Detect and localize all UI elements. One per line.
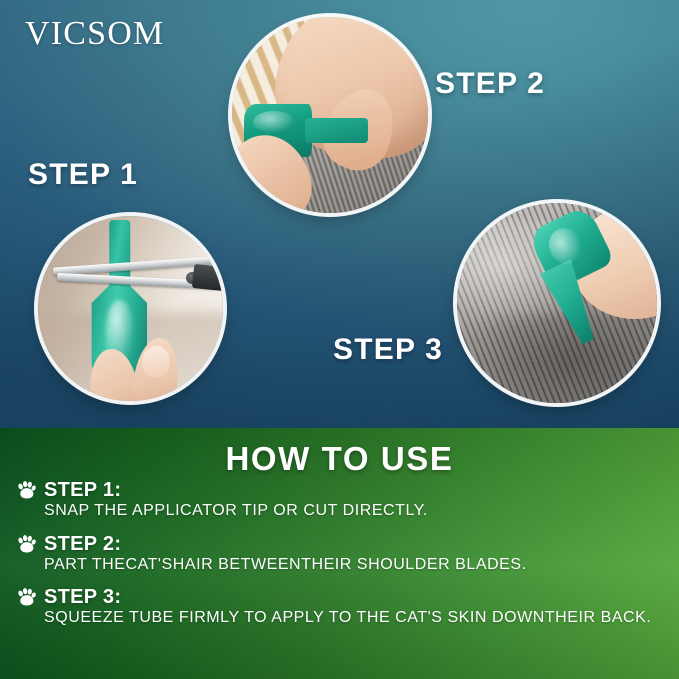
instruction-step-1-label: STEP 1: — [44, 480, 121, 501]
instruction-step-3: STEP 3: SQUEEZE TUBE FIRMLY TO APPLY TO … — [16, 587, 665, 627]
photo-label-step-2: STEP 2 — [435, 69, 545, 99]
instruction-step-list: STEP 1: SNAP THE APPLICATOR TIP OR CUT D… — [16, 480, 665, 641]
photo-panel: VICSOM — [0, 0, 679, 428]
photo-step-2 — [232, 17, 428, 213]
instruction-step-2-description: PART THECAT'SHAIR BETWEENTHEIR SHOULDER … — [44, 556, 665, 574]
how-to-use-panel: HOW TO USE STEP 1: SNAP THE APPLICATOR T… — [0, 428, 679, 679]
photo-step-2-scene — [232, 17, 428, 213]
instruction-step-2-header: STEP 2: — [16, 534, 665, 555]
instruction-step-2-label: STEP 2: — [44, 534, 121, 555]
brand-logo: VICSOM — [25, 17, 164, 51]
instruction-step-1-description: SNAP THE APPLICATOR TIP OR CUT DIRECTLY. — [44, 502, 665, 520]
photo-label-step-1: STEP 1 — [28, 160, 138, 190]
instruction-step-1: STEP 1: SNAP THE APPLICATOR TIP OR CUT D… — [16, 480, 665, 520]
photo1-scissor-handle — [192, 264, 223, 292]
photo2-applicator-neck — [305, 118, 368, 143]
product-infographic: VICSOM — [0, 0, 679, 679]
photo-step-1-scene — [38, 216, 223, 401]
photo-step-1 — [38, 216, 223, 401]
photo2-applicator-highlight — [253, 111, 294, 134]
paw-print-icon — [16, 481, 37, 500]
paw-print-icon — [16, 535, 37, 554]
photo-step-3 — [457, 203, 657, 403]
photo-step-3-scene — [457, 203, 657, 403]
instruction-step-3-label: STEP 3: — [44, 587, 121, 608]
paw-print-icon — [16, 588, 37, 607]
how-to-use-title: HOW TO USE — [0, 442, 679, 475]
instruction-step-2: STEP 2: PART THECAT'SHAIR BETWEENTHEIR S… — [16, 534, 665, 574]
instruction-step-3-header: STEP 3: — [16, 587, 665, 608]
instruction-step-3-description: SQUEEZE TUBE FIRMLY TO APPLY TO THE CAT'… — [44, 609, 665, 627]
photo-label-step-3: STEP 3 — [333, 335, 443, 365]
instruction-step-1-header: STEP 1: — [16, 480, 665, 501]
